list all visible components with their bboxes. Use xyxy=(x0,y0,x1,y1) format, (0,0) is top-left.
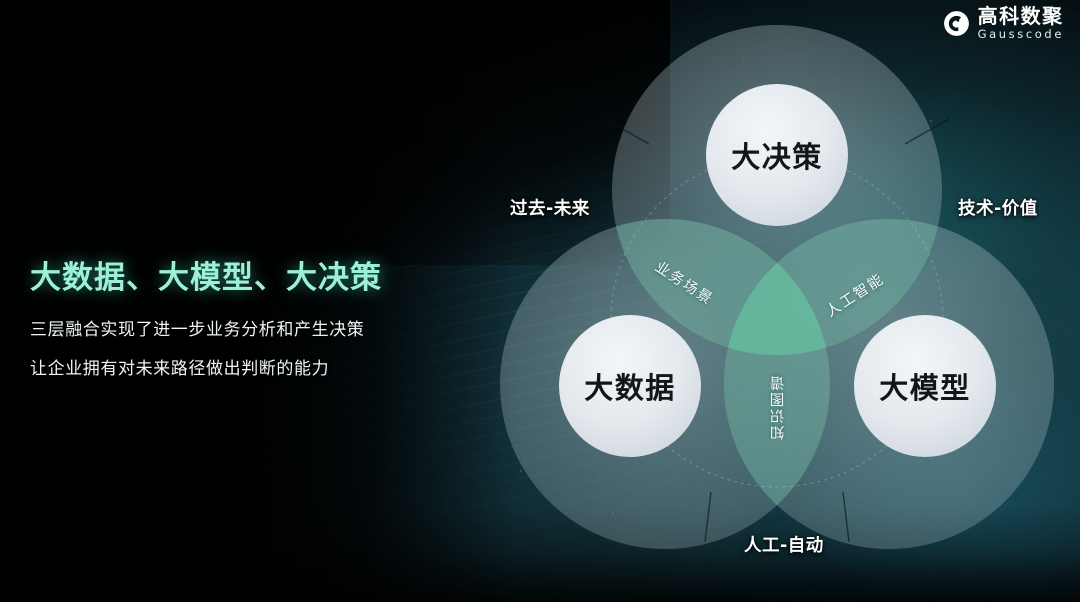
venn-circle-label-bigdata: 大数据 xyxy=(584,365,676,407)
copy-block: 大数据、大模型、大决策 三层融合实现了进一步业务分析和产生决策 让企业拥有对未来… xyxy=(30,252,382,379)
venn-overlap-label-knowledge-graph: 知识图谱 xyxy=(768,374,789,440)
subtitle-line-2: 让企业拥有对未来路径做出判断的能力 xyxy=(30,354,382,379)
gausscode-g-mark-icon xyxy=(943,10,970,37)
venn-circle-label-bigmodel: 大模型 xyxy=(879,365,971,407)
venn-svg xyxy=(497,22,1057,552)
page-title: 大数据、大模型、大决策 xyxy=(30,252,382,297)
venn-diagram: 大决策 大数据 大模型 业务场景 人工智能 知识图谱 xyxy=(497,22,1057,552)
brand-name-cn: 高科数聚 xyxy=(978,6,1064,26)
brand-logo: 高科数聚 Gausscode xyxy=(943,6,1064,41)
venn-circle-label-decision: 大决策 xyxy=(731,134,823,176)
subtitle-line-1: 三层融合实现了进一步业务分析和产生决策 xyxy=(30,315,382,340)
slide-canvas: 高科数聚 Gausscode 大数据、大模型、大决策 三层融合实现了进一步业务分… xyxy=(0,0,1080,602)
venn-axis-label-manual-auto: 人工-自动 xyxy=(744,532,824,557)
venn-axis-label-tech-value: 技术-价值 xyxy=(958,195,1038,220)
venn-axis-label-past-future: 过去-未来 xyxy=(510,195,590,220)
brand-name-en: Gausscode xyxy=(978,29,1064,41)
